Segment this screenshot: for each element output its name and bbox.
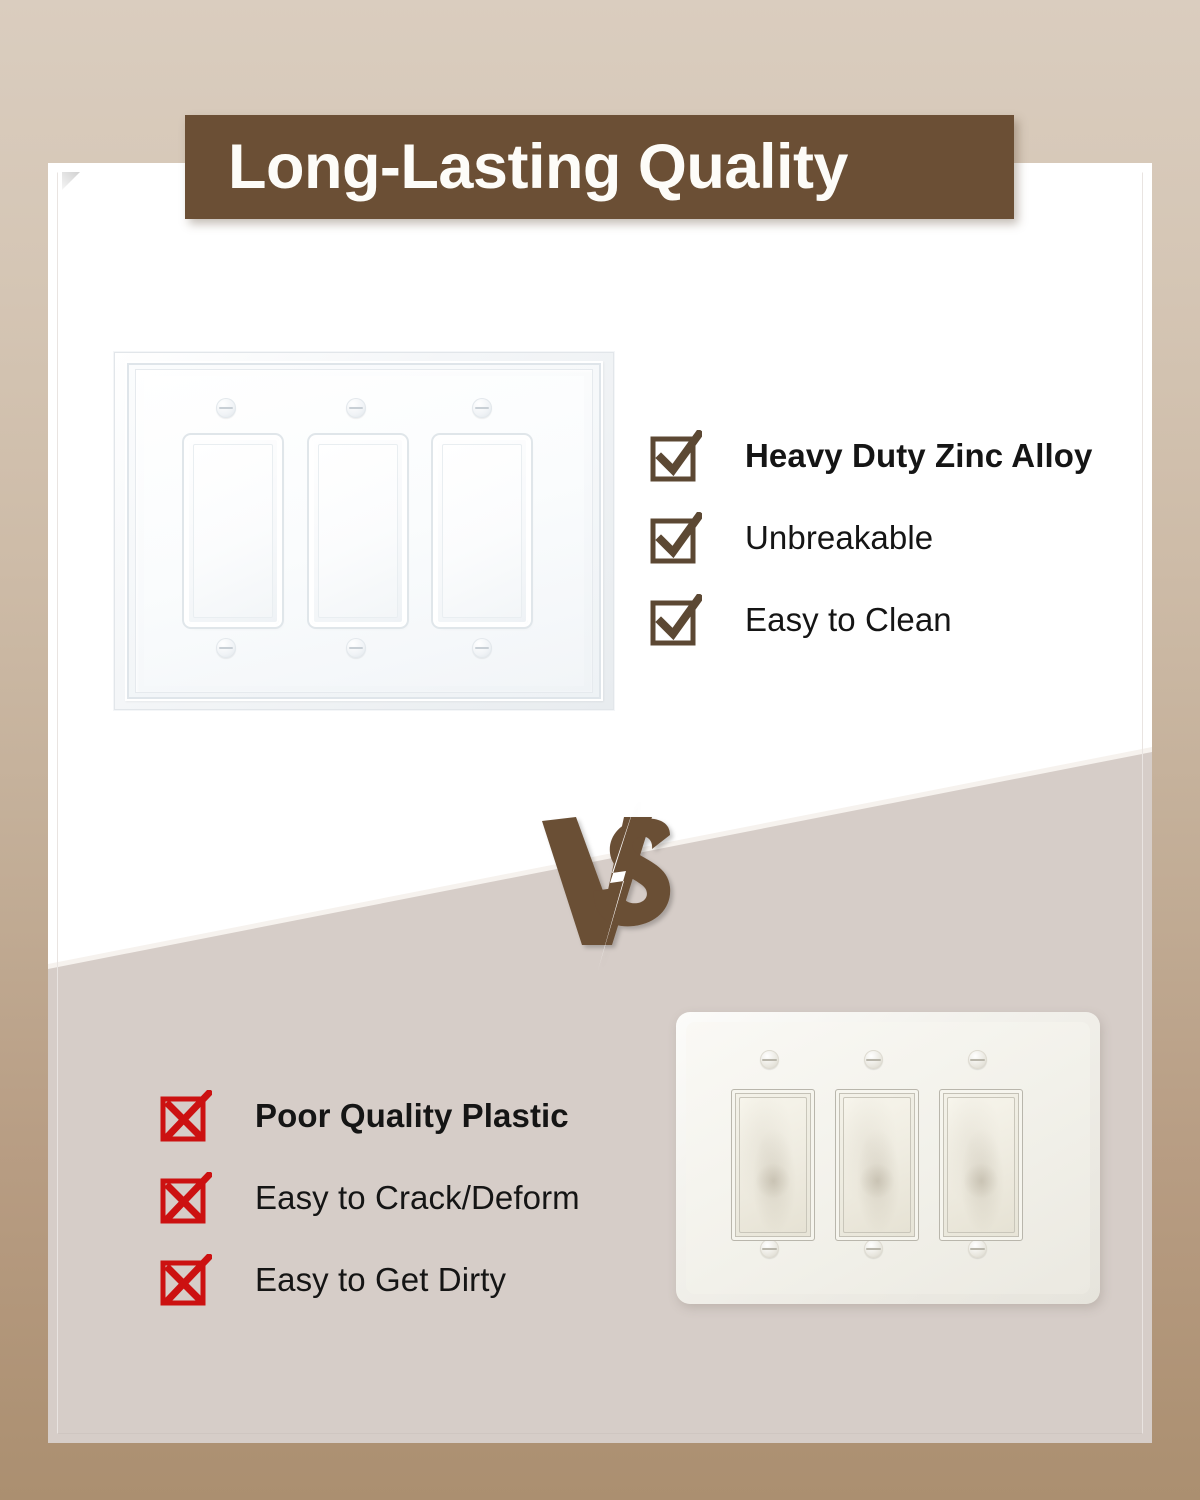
dirt-smudge [964,1162,998,1200]
bad-screw-top-left [760,1050,779,1069]
cross-icon [160,1172,212,1224]
comparison-card: Heavy Duty Zinc Alloy Unbreakable Easy t… [48,163,1152,1443]
feature-row: Easy to Crack/Deform [160,1157,580,1239]
bad-rocker-face-3 [947,1097,1015,1233]
feature-row: Heavy Duty Zinc Alloy [650,415,1092,497]
screw-top-left [216,398,236,418]
rocker-switch-2 [312,438,404,624]
bad-screw-top-right [968,1050,987,1069]
corner-fold-artifact [62,172,80,190]
bad-screw-bottom-center [864,1239,883,1258]
bad-rocker-face-2 [843,1097,911,1233]
bad-rocker-face-1 [739,1097,807,1233]
bad-rocker-switch-2 [835,1089,919,1241]
page-title: Long-Lasting Quality [185,136,848,199]
title-banner: Long-Lasting Quality [185,115,1014,219]
plate-face [144,376,584,686]
check-icon [650,512,702,564]
good-feature-list: Heavy Duty Zinc Alloy Unbreakable Easy t… [650,415,1092,661]
screw-bottom-right [472,638,492,658]
feature-label: Easy to Crack/Deform [255,1179,580,1217]
bad-product-image [676,1012,1100,1304]
screw-top-center [346,398,366,418]
screw-bottom-center [346,638,366,658]
feature-label: Heavy Duty Zinc Alloy [745,437,1092,475]
cross-icon [160,1090,212,1142]
bad-screw-bottom-right [968,1239,987,1258]
cross-icon [160,1254,212,1306]
bad-plate-face [686,1022,1090,1294]
vs-logo [520,795,710,970]
dirt-smudge [860,1162,894,1200]
rocker-face-3 [442,444,522,618]
bad-rocker-switch-1 [731,1089,815,1241]
bad-screw-top-center [864,1050,883,1069]
good-product-image [114,352,614,710]
feature-row: Unbreakable [650,497,1092,579]
feature-label: Unbreakable [745,519,933,557]
rocker-switch-3 [436,438,528,624]
bad-screw-bottom-left [760,1239,779,1258]
feature-row: Easy to Get Dirty [160,1239,580,1321]
feature-label: Poor Quality Plastic [255,1097,569,1135]
bad-feature-list: Poor Quality Plastic Easy to Crack/Defor… [160,1075,580,1321]
feature-label: Easy to Clean [745,601,952,639]
rocker-face-1 [193,444,273,618]
feature-label: Easy to Get Dirty [255,1261,506,1299]
feature-row: Easy to Clean [650,579,1092,661]
feature-row: Poor Quality Plastic [160,1075,580,1157]
rocker-switch-1 [187,438,279,624]
check-icon [650,594,702,646]
dirt-smudge [756,1162,790,1200]
bad-rocker-switch-3 [939,1089,1023,1241]
screw-top-right [472,398,492,418]
screw-bottom-left [216,638,236,658]
rocker-face-2 [318,444,398,618]
check-icon [650,430,702,482]
